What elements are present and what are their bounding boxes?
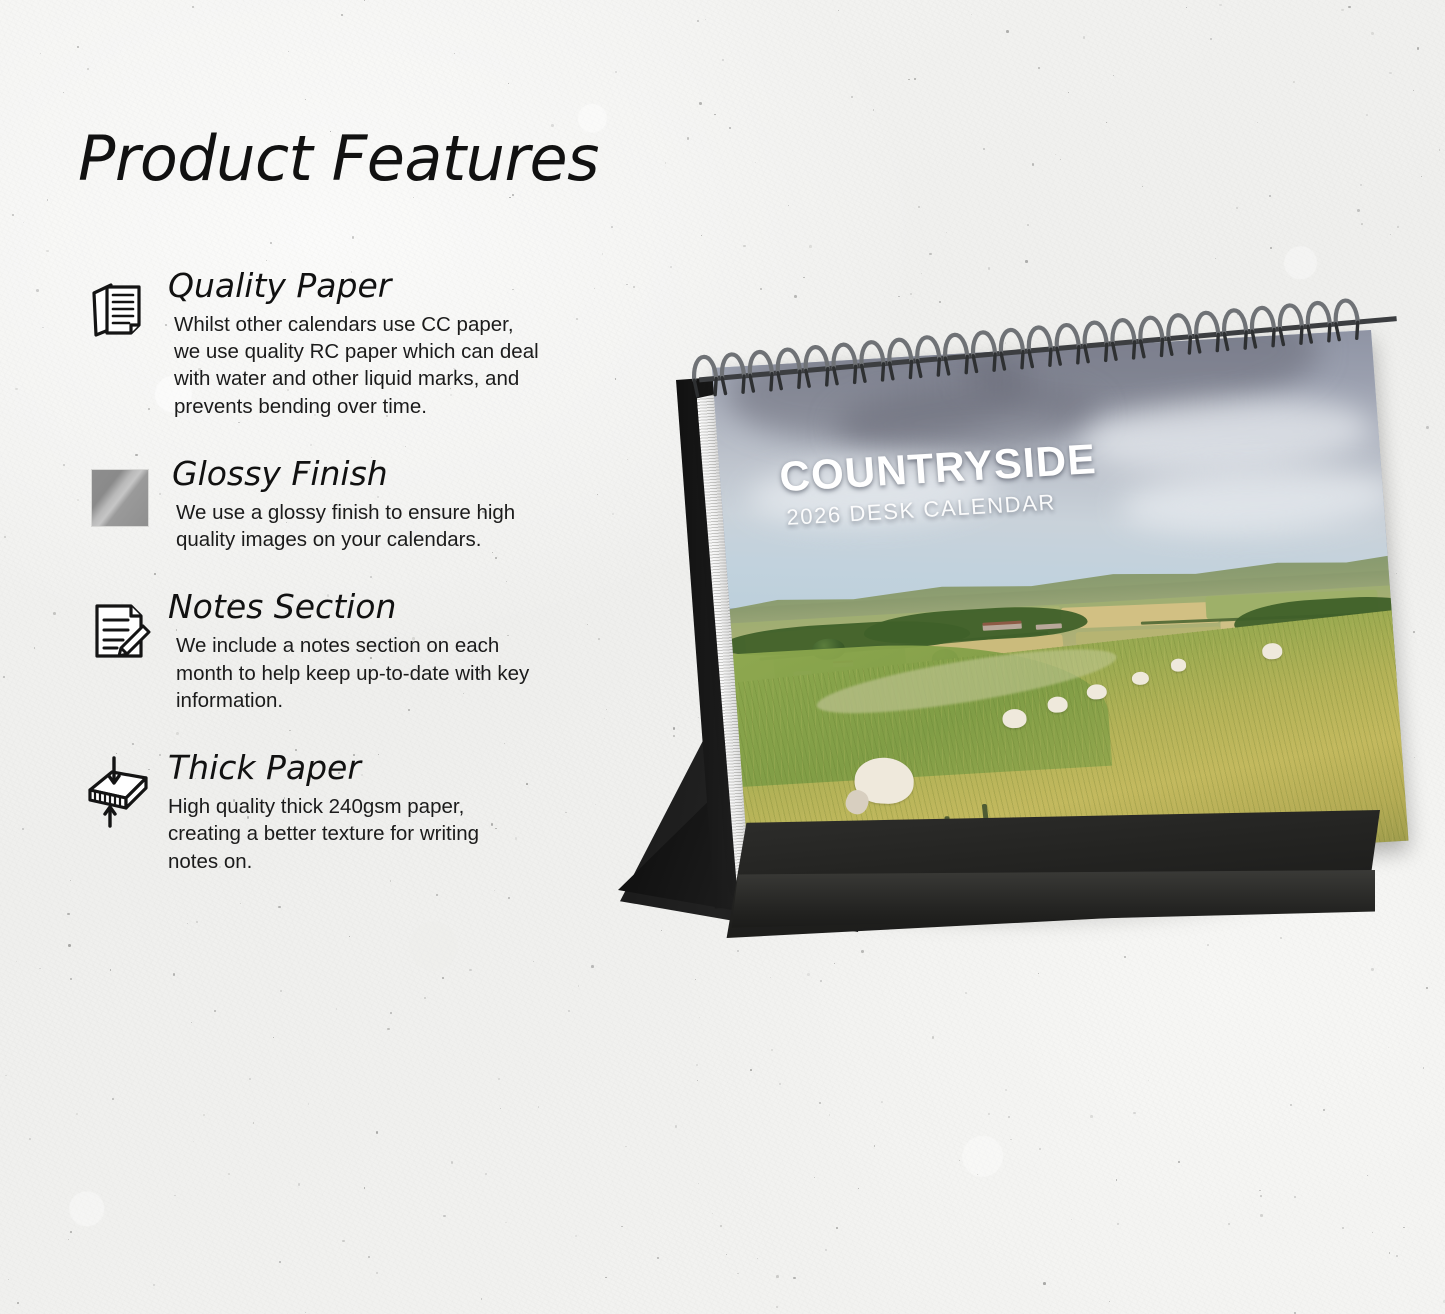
stacked-papers-icon: [78, 268, 162, 352]
sheep-mid: [1262, 643, 1283, 659]
paper-thickness-icon: [78, 750, 162, 834]
sheep-mid: [1047, 696, 1068, 712]
desk-calendar-product-photo: COUNTRYSIDE 2026 DESK CALENDAR: [600, 330, 1420, 990]
cover-photograph: COUNTRYSIDE 2026 DESK CALENDAR: [712, 330, 1408, 879]
feature-heading: Notes Section: [168, 589, 638, 626]
feature-heading: Glossy Finish: [172, 456, 638, 493]
note-pencil-icon: [78, 589, 162, 673]
sheep-mid: [1170, 659, 1187, 672]
feature-body: Glossy Finish We use a glossy finish to …: [78, 456, 638, 553]
feature-description: High quality thick 240gsm paper, creatin…: [168, 793, 628, 875]
feature-description: We include a notes section on each month…: [168, 632, 636, 714]
product-features-page: Product Features: [0, 0, 1445, 1314]
feature-notes-section: Notes Section We include a notes section…: [78, 589, 638, 714]
sheep-mid: [1002, 709, 1027, 729]
feature-description: We use a glossy finish to ensure high qu…: [172, 499, 636, 554]
page-title: Product Features: [78, 128, 638, 190]
feature-quality-paper: Quality Paper Whilst other calendars use…: [78, 268, 638, 420]
feature-body: Quality Paper Whilst other calendars use…: [78, 268, 638, 420]
feature-body: Notes Section We include a notes section…: [78, 589, 638, 714]
calendar-cover-sheet: COUNTRYSIDE 2026 DESK CALENDAR: [712, 330, 1408, 879]
feature-heading: Quality Paper: [168, 268, 638, 305]
feature-description: Whilst other calendars use CC paper, we …: [168, 311, 634, 420]
feature-heading: Thick Paper: [168, 750, 638, 787]
features-column: Product Features: [78, 128, 638, 911]
feature-glossy-finish: Glossy Finish We use a glossy finish to …: [78, 456, 638, 553]
feature-body: Thick Paper High quality thick 240gsm pa…: [78, 750, 638, 875]
feature-thick-paper: Thick Paper High quality thick 240gsm pa…: [78, 750, 638, 875]
gloss-swatch-icon: [78, 456, 162, 540]
gloss-swatch-shape: [91, 469, 149, 527]
